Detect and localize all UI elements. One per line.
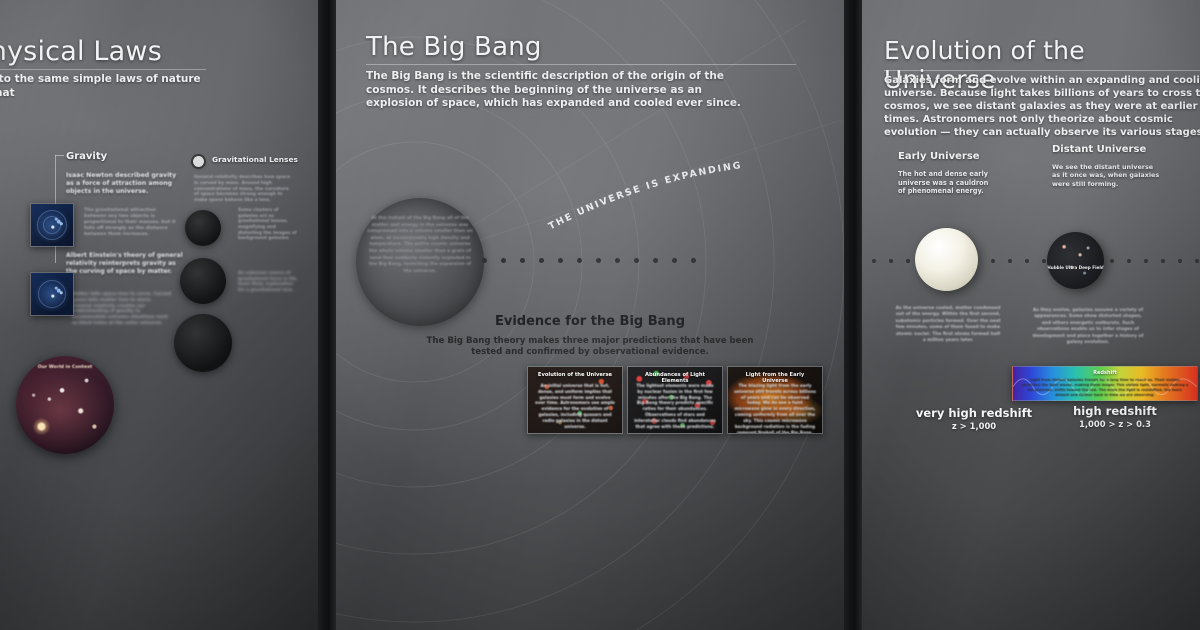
right-title-rule xyxy=(884,70,1200,71)
evidence-card-abundances[interactable]: Abundances of Light Elements The lightes… xyxy=(627,366,723,434)
gravitational-lenses-heading: Gravitational Lenses xyxy=(212,155,298,164)
evidence-title: Evidence for the Big Bang xyxy=(336,314,844,329)
distant-universe-caption: As they evolve, galaxies assume a variet… xyxy=(1032,308,1144,346)
panel-seam-right xyxy=(844,0,862,630)
left-panel-title: of Physical Laws xyxy=(0,36,162,67)
early-universe-body: The hot and dense early universe was a c… xyxy=(898,170,996,196)
distant-universe-sphere: Hubble Ultra Deep Field xyxy=(1047,232,1104,289)
lens-ring-inner xyxy=(43,216,61,234)
evidence-card-abundances-body: The lightest elements were made by nucle… xyxy=(634,383,716,430)
evidence-heading-group: Evidence for the Big Bang xyxy=(336,314,844,329)
early-universe-caption: As the universe cooled, matter condensed… xyxy=(894,306,1002,344)
lens-image-1 xyxy=(31,204,73,246)
panel-seam-left xyxy=(318,0,336,630)
gravity-lens-thumbnail-1 xyxy=(30,203,74,247)
redshift-card-title: Redshift xyxy=(1013,370,1197,376)
universe-expanding-arc-label: THE UNIVERSE IS EXPANDING xyxy=(542,158,792,248)
arc-label-text: THE UNIVERSE IS EXPANDING xyxy=(547,160,743,232)
gravity-heading: Gravity xyxy=(66,151,107,162)
right-panel-intro: Galaxies form and evolve within an expan… xyxy=(884,74,1200,139)
star-field-disc: Our World in Context xyxy=(16,356,114,454)
evidence-subtitle-group: The Big Bang theory makes three major pr… xyxy=(336,336,844,359)
einstein-body: Albert Einstein's theory of general rela… xyxy=(66,252,184,275)
gravitational-lenses-body: General relativity describes how space i… xyxy=(194,175,292,204)
early-universe-sphere xyxy=(915,228,978,291)
gravity-bracket-tick xyxy=(55,155,64,156)
distant-universe-heading: Distant Universe xyxy=(1052,144,1146,155)
black-sphere-small xyxy=(185,210,221,246)
black-sphere-medium xyxy=(180,258,226,304)
high-redshift-label: high redshift 1,000 > z > 0.3 xyxy=(1030,404,1200,429)
panel-big-bang: The Big Bang The Big Bang is the scienti… xyxy=(336,0,844,630)
gravitational-lenses-detail: Some clusters of galaxies act as gravita… xyxy=(238,208,300,242)
center-title-rule xyxy=(366,64,796,65)
gravity-lens-thumbnail-2 xyxy=(30,272,74,316)
singularity-text: At the instant of the Big Bang all of th… xyxy=(366,216,474,275)
singularity-disc: At the instant of the Big Bang all of th… xyxy=(356,198,484,326)
left-panel-intro: t to the same simple laws of nature that xyxy=(0,73,220,100)
evidence-subtitle: The Big Bang theory makes three major pr… xyxy=(416,336,764,359)
exhibit-wall: of Physical Laws t to the same simple la… xyxy=(0,0,1200,630)
center-panel-intro: The Big Bang is the scientific descripti… xyxy=(366,70,756,111)
panel-evolution-universe: Evolution of the Universe Galaxies form … xyxy=(862,0,1200,630)
gravitational-lenses-detail-2: An unknown source of gravitational force… xyxy=(238,270,300,292)
redshift-card-body: Light from distant galaxies travels for … xyxy=(1021,378,1189,398)
lens-image-2 xyxy=(31,273,73,315)
distant-universe-body: We see the distant universe as it once w… xyxy=(1052,163,1162,188)
svg-text:THE UNIVERSE IS EXPANDING: THE UNIVERSE IS EXPANDING xyxy=(547,160,743,232)
center-panel-title: The Big Bang xyxy=(366,32,542,62)
deep-field-caption: Hubble Ultra Deep Field xyxy=(1047,265,1104,270)
evidence-card-evolution-title: Evolution of the Universe xyxy=(532,372,618,378)
star-field-caption: Our World in Context xyxy=(16,365,114,370)
evidence-card-early-light-body: The blazing light from the early univers… xyxy=(734,383,816,434)
evidence-card-early-light[interactable]: Light from the Early Universe The blazin… xyxy=(727,366,823,434)
einstein-detail: Matter tells space how to curve. Curved … xyxy=(72,292,172,327)
high-redshift-value: 1,000 > z > 0.3 xyxy=(1030,419,1200,429)
panel-physical-laws: of Physical Laws t to the same simple la… xyxy=(0,0,318,630)
left-title-rule xyxy=(0,69,206,70)
evidence-card-evolution[interactable]: Evolution of the Universe An initial uni… xyxy=(527,366,623,434)
early-universe-heading: Early Universe xyxy=(898,151,980,162)
black-sphere-large xyxy=(174,314,232,372)
expansion-dot-line xyxy=(482,258,696,263)
evidence-card-evolution-body: An initial universe that is hot, dense, … xyxy=(534,383,616,430)
gravity-detail: The gravitational attraction between any… xyxy=(84,208,176,238)
lens-ring-2 xyxy=(38,280,66,308)
gravity-body: Isaac Newton described gravity as a forc… xyxy=(66,172,184,196)
redshift-spectrum-card[interactable]: Redshift Light from distant galaxies tra… xyxy=(1012,366,1198,401)
evidence-card-row: Evolution of the Universe An initial uni… xyxy=(527,366,823,434)
gravitational-lenses-node-icon xyxy=(193,156,204,167)
high-redshift-title: high redshift xyxy=(1030,404,1200,418)
